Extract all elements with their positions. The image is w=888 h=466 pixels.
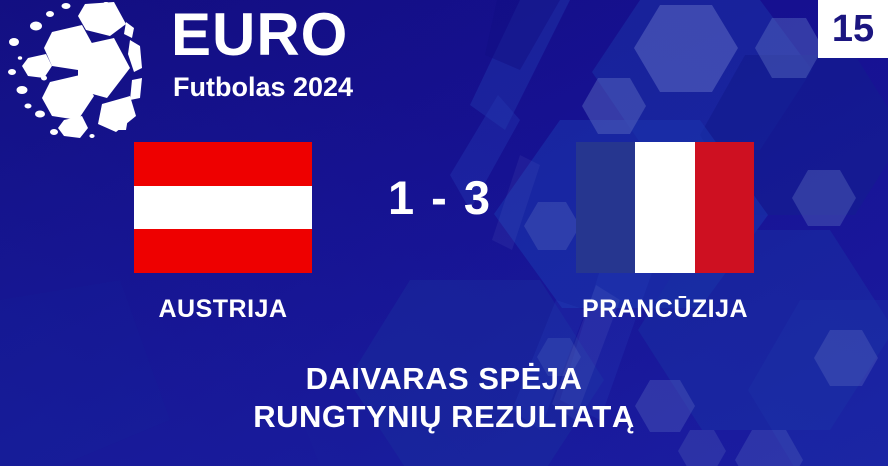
match-score: 1 - 3 [330, 172, 550, 224]
round-number-badge: 15 [818, 0, 888, 58]
euro-subtitle: Futbolas 2024 [173, 72, 353, 102]
round-number-badge-value: 15 [832, 10, 874, 48]
austria-flag-stripe-bottom [134, 229, 312, 273]
away-team-name: PRANCŪZIJA [515, 294, 815, 324]
austria-flag-stripe-top [134, 142, 312, 186]
match-result-card: EURO Futbolas 2024 15 1 - 3 AUSTRIJA PRA… [0, 0, 888, 466]
caption-line-1: DAIVARAS SPĖJA [0, 360, 888, 398]
france-flag-stripe-middle [635, 142, 694, 273]
match-row: 1 - 3 [0, 142, 888, 274]
euro-title: EURO [171, 3, 348, 67]
home-team-name: AUSTRIJA [73, 294, 373, 324]
austria-flag-stripe-middle [134, 186, 312, 230]
caption-block: DAIVARAS SPĖJA RUNGTYNIŲ REZULTATĄ [0, 360, 888, 436]
france-flag-stripe-right [695, 142, 754, 273]
france-flag [576, 142, 754, 273]
euro-logo-block: EURO Futbolas 2024 [0, 0, 380, 140]
soccer-ball-icon [6, 2, 146, 140]
caption-line-2: RUNGTYNIŲ REZULTATĄ [0, 398, 888, 436]
austria-flag [134, 142, 312, 273]
france-flag-stripe-left [576, 142, 635, 273]
